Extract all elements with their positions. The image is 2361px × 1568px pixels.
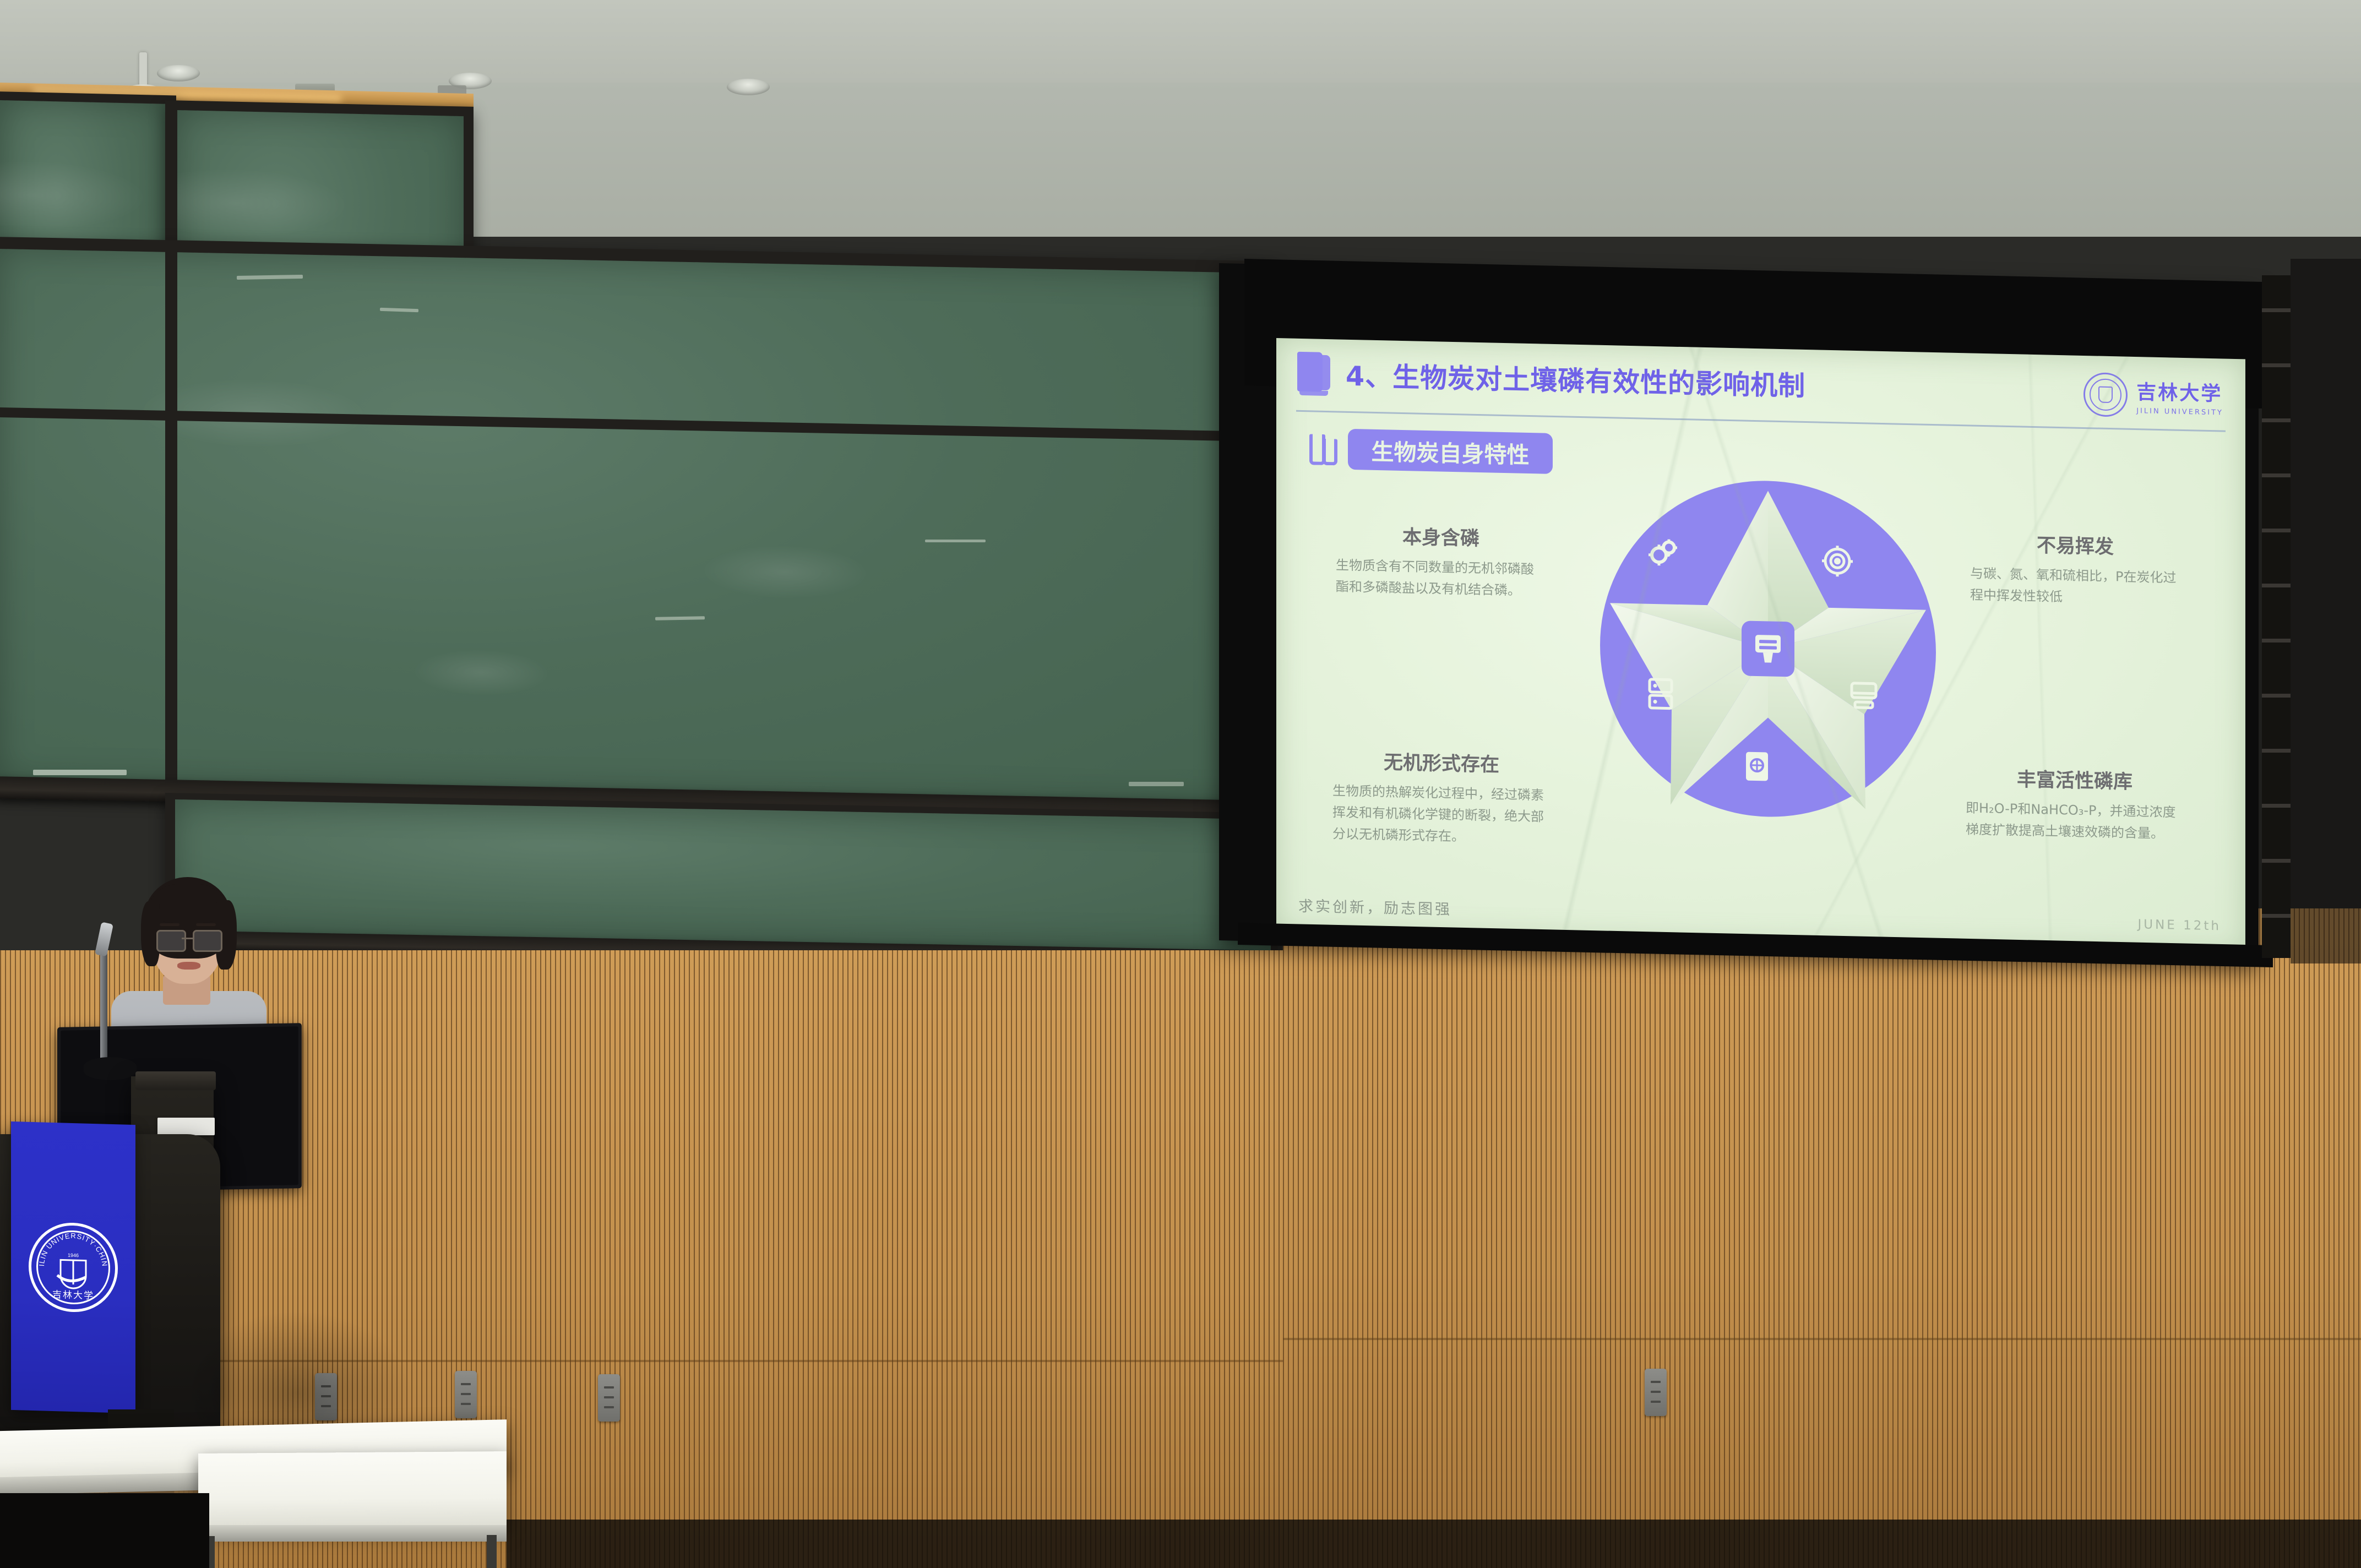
under-table-shadow (0, 1493, 209, 1568)
server-icon (1646, 677, 1675, 711)
presenter-brow (196, 923, 216, 926)
monitor-icon (1849, 680, 1879, 712)
downlight-icon (157, 65, 200, 81)
svg-text:吉林大学: 吉林大学 (52, 1289, 94, 1302)
floor-shadow (507, 1520, 2361, 1568)
presenter-fringe (150, 884, 226, 924)
wall-shadow-right (2291, 259, 2361, 963)
target-icon (1820, 544, 1854, 579)
block-body: 生物质含有不同数量的无机邻磷酸酯和多磷酸盐以及有机结合磷。 (1336, 554, 1546, 602)
foreground-table-edge-2 (198, 1525, 507, 1542)
podium-top-surface (135, 1071, 216, 1090)
slide-title-row: 4、生物炭对土壤磷有效性的影响机制 (1297, 352, 1805, 405)
downlight-icon (727, 79, 770, 95)
podium-paper (157, 1118, 215, 1135)
block-heading: 无机形式存在 (1332, 745, 1551, 778)
lecture-hall-photo: 4、生物炭对土壤磷有效性的影响机制 吉林大学 JILIN UNIVERSITY … (0, 0, 2361, 1568)
ceiling-far-plane (0, 0, 2361, 83)
eyeglasses-bridge-icon (182, 938, 194, 939)
projected-slide: 4、生物炭对土壤磷有效性的影响机制 吉林大学 JILIN UNIVERSITY … (1276, 338, 2245, 954)
chalk-residue (925, 540, 986, 542)
chalk-stick (1129, 782, 1184, 786)
section-label: 生物炭自身特性 (1348, 429, 1553, 474)
block-body: 与碳、氮、氧和硫相比，P在炭化过程中挥发性较低 (1970, 563, 2180, 610)
badge-icon (1743, 749, 1771, 784)
wall-outlet[interactable] (455, 1371, 477, 1418)
book-icon (1297, 352, 1331, 394)
sprinkler-icon (139, 52, 147, 91)
block-heading: 丰富活性磷库 (1966, 763, 2184, 796)
microphone-base (84, 1057, 137, 1080)
block-heading: 本身含磷 (1336, 520, 1546, 552)
podium-banner: JILIN UNIVERSITY·CHINA 1946 吉林大学 (11, 1121, 135, 1413)
table-leg (487, 1535, 497, 1568)
jilin-university-seal-icon (2083, 372, 2128, 417)
block-bottom-left: 无机形式存在 生物质的热解炭化过程中，经过磷素挥发和有机磷化学键的断裂，绝大部分… (1332, 745, 1551, 849)
wall-outlet[interactable] (598, 1374, 620, 1422)
svg-text:JILIN UNIVERSITY·CHINA: JILIN UNIVERSITY·CHINA (29, 1222, 109, 1268)
logo-en-text: JILIN UNIVERSITY (2136, 407, 2223, 417)
section-pill-row: 生物炭自身特性 (1307, 428, 1553, 474)
chalkboard-panel-lower (175, 799, 1271, 950)
wall-seam (1283, 1338, 2361, 1340)
gears-icon (1644, 533, 1683, 573)
block-top-left: 本身含磷 生物质含有不同数量的无机邻磷酸酯和多磷酸盐以及有机结合磷。 (1336, 520, 1546, 602)
block-body: 生物质的热解炭化过程中，经过磷素挥发和有机磷化学键的断裂，绝大部分以无机磷形式存… (1332, 780, 1551, 849)
presenter-mouth (177, 962, 200, 970)
chalk-stick (33, 770, 127, 775)
eyeglasses-right-lens-icon (193, 930, 222, 952)
university-logo: 吉林大学 JILIN UNIVERSITY (2083, 372, 2223, 420)
block-body: 即H₂O-P和NaHCO₃-P，并通过浓度梯度扩散提高土壤速效磷的含量。 (1966, 797, 2184, 845)
slide-title: 4、生物炭对土壤磷有效性的影响机制 (1346, 354, 1805, 403)
logo-cn-text: 吉林大学 (2136, 376, 2223, 406)
block-heading: 不易挥发 (1970, 528, 2180, 560)
blind-track (2262, 275, 2291, 958)
slide-footer-date: JUNE 12th (2137, 917, 2221, 933)
eyeglasses-left-lens-icon (156, 930, 186, 952)
presenter-brow (160, 923, 179, 926)
slide-footer-motto: 求实创新，励志图强 (1298, 894, 1452, 919)
jilin-university-podium-seal-icon: JILIN UNIVERSITY·CHINA 1946 吉林大学 (29, 1222, 118, 1314)
wall-outlet[interactable] (1645, 1369, 1667, 1416)
chalkboard-panel-main (0, 249, 1266, 804)
svg-text:1946: 1946 (68, 1253, 79, 1259)
block-top-right: 不易挥发 与碳、氮、氧和硫相比，P在炭化过程中挥发性较低 (1970, 528, 2180, 610)
wood-slat-wall-right (1283, 908, 2361, 1568)
chalkboard-divider (165, 249, 177, 780)
star-infographic (1600, 477, 1936, 820)
flask-icon (1307, 432, 1337, 465)
foreground-table-top-2 (198, 1451, 507, 1531)
block-bottom-right: 丰富活性磷库 即H₂O-P和NaHCO₃-P，并通过浓度梯度扩散提高土壤速效磷的… (1966, 763, 2184, 845)
document-center-icon (1742, 620, 1794, 677)
